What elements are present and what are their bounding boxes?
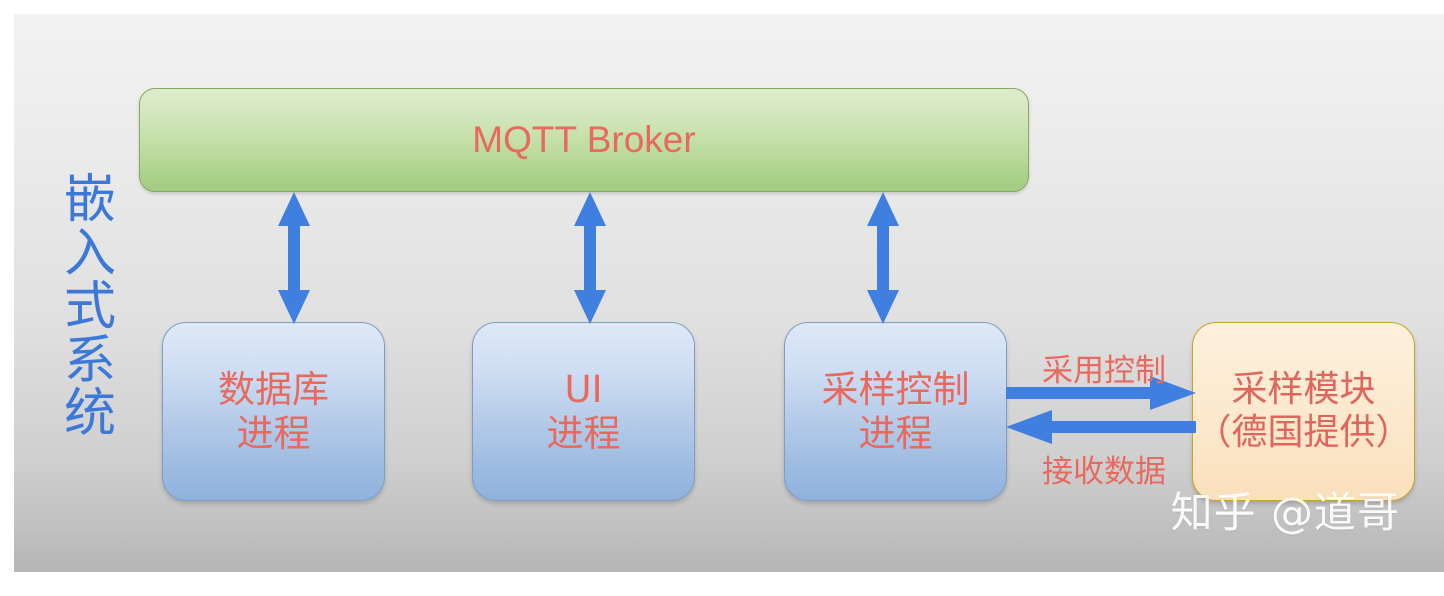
edge-label-control: 采用控制 [1004, 345, 1204, 390]
double-arrow-broker-ui-icon [570, 192, 610, 324]
double-arrow-broker-database-icon [274, 192, 314, 324]
mqtt-broker-label: MQTT Broker [140, 118, 1028, 162]
ui-process-label: UI 进程 [473, 368, 694, 455]
sampling-module-node[interactable]: 采样模块 （德国提供） [1192, 322, 1415, 501]
slide-background: 嵌入式 系统 MQTT Broker 数据库 进程 UI 进程 采样控制 进程 … [14, 14, 1444, 572]
diagram-canvas: 嵌入式 系统 MQTT Broker 数据库 进程 UI 进程 采样控制 进程 … [0, 0, 1444, 596]
embedded-system-label: 嵌入式 系统 [54, 174, 126, 442]
database-process-label: 数据库 进程 [163, 368, 384, 455]
sampling-control-process-node[interactable]: 采样控制 进程 [784, 322, 1007, 501]
arrow-data-to-sampling-icon [1006, 410, 1196, 444]
double-arrow-broker-sampling-icon [863, 192, 903, 324]
database-process-node[interactable]: 数据库 进程 [162, 322, 385, 501]
sampling-control-process-label: 采样控制 进程 [785, 368, 1006, 455]
mqtt-broker-node[interactable]: MQTT Broker [139, 88, 1029, 192]
ui-process-node[interactable]: UI 进程 [472, 322, 695, 501]
sampling-module-label: 采样模块 （德国提供） [1193, 369, 1414, 454]
watermark: 知乎 @道哥 [1171, 479, 1400, 540]
